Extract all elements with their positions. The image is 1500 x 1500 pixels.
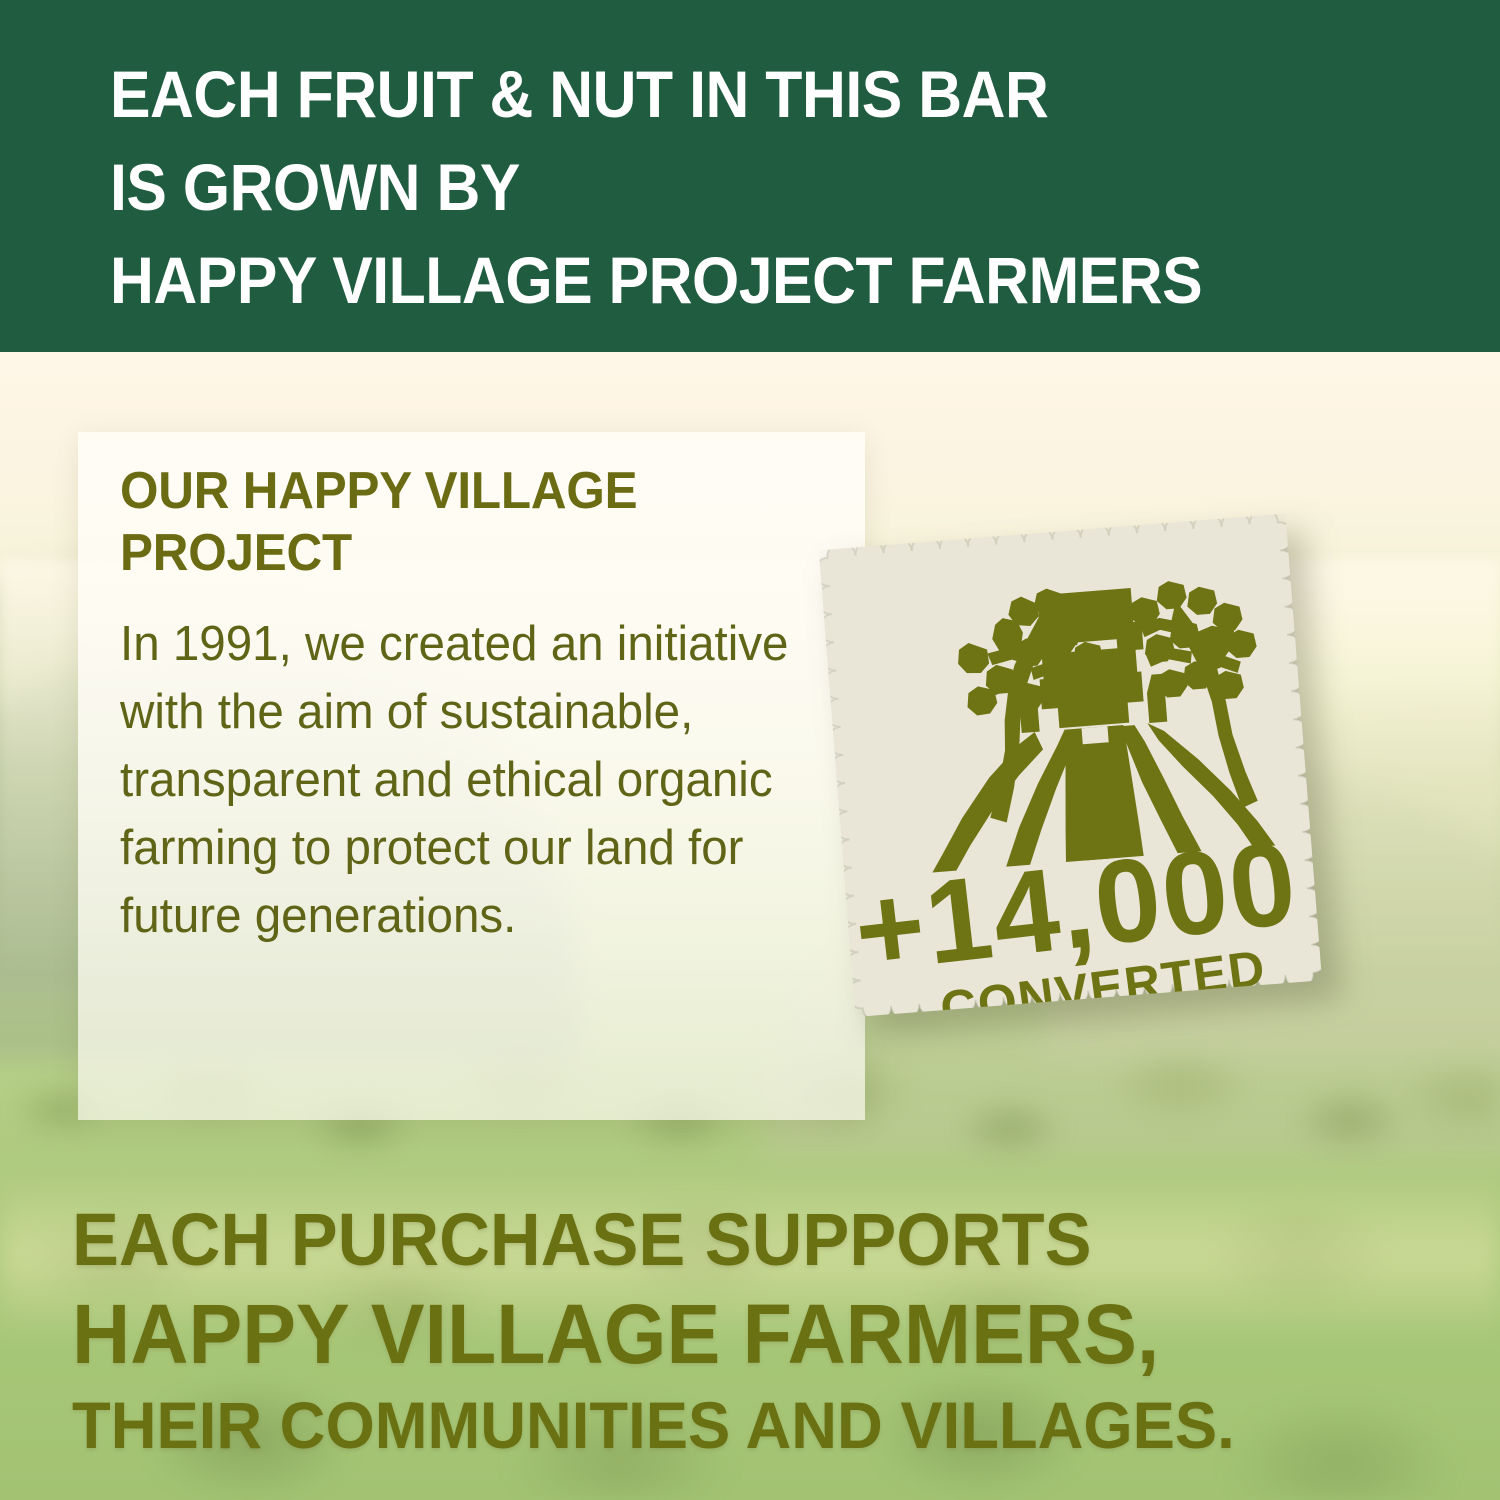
bottom-line-2: HAPPY VILLAGE FARMERS, <box>72 1284 1416 1384</box>
card-body-text: In 1991, we created an initiative with t… <box>120 610 799 950</box>
bottom-line-3: THEIR COMMUNITIES AND VILLAGES. <box>72 1384 1416 1466</box>
bottom-line-1: EACH PURCHASE SUPPORTS <box>72 1196 1402 1284</box>
organic-hectares-stamp: +14,000 CONVERTED HECTARES LAND TO ORGAN… <box>819 511 1357 1059</box>
headline: EACH FRUIT & NUT IN THIS BAR IS GROWN BY… <box>110 48 1334 327</box>
product-infographic-panel: EACH FRUIT & NUT IN THIS BAR IS GROWN BY… <box>0 0 1500 1500</box>
headline-line-2: IS GROWN BY <box>110 141 1334 234</box>
stamp-paper <box>819 514 1322 1017</box>
happy-village-project-card: OUR HAPPY VILLAGE PROJECT In 1991, we cr… <box>78 432 865 1120</box>
headline-line-3: HAPPY VILLAGE PROJECT FARMERS <box>110 234 1334 327</box>
card-title: OUR HAPPY VILLAGE PROJECT <box>120 460 804 584</box>
headline-line-1: EACH FRUIT & NUT IN THIS BAR <box>110 48 1334 141</box>
header-band: EACH FRUIT & NUT IN THIS BAR IS GROWN BY… <box>0 0 1500 352</box>
bottom-statement: EACH PURCHASE SUPPORTS HAPPY VILLAGE FAR… <box>72 1196 1472 1466</box>
